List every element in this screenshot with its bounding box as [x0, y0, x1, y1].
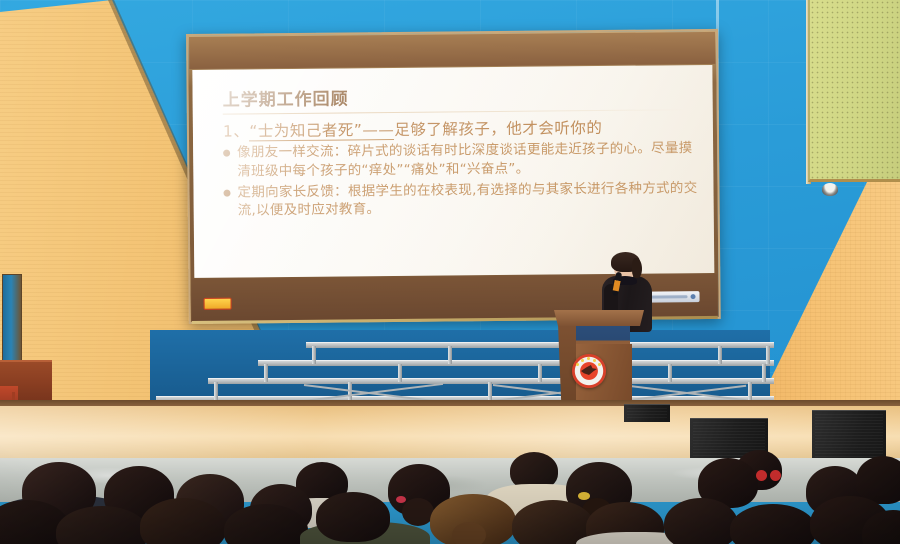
riser-leg — [748, 382, 752, 400]
riser-leg — [668, 364, 672, 382]
riser-deck — [258, 360, 774, 366]
school-crest-icon — [572, 354, 606, 388]
riser-leg — [762, 364, 766, 382]
slide-content: 上学期工作回顾 1、“士为知己者死”——足够了解孩子，他才会听你的 像朋友一样交… — [222, 81, 700, 274]
slide-title: 上学期工作回顾 — [222, 81, 698, 111]
acoustic-panel-green — [808, 0, 900, 182]
slide-title-rule — [223, 109, 689, 114]
screen-top-band — [189, 32, 715, 69]
slide-bullet-item: 像朋友一样交流：碎片式的谈话有时比深度谈话更能走近孩子的心。尽量摸清班级中每个孩… — [223, 140, 699, 182]
hair-bobble — [756, 470, 767, 481]
riser-leg — [448, 346, 452, 364]
riser-leg — [214, 382, 218, 400]
bullet-dot-icon — [223, 189, 230, 196]
stage-monitor — [624, 404, 670, 422]
riser-leg — [488, 382, 492, 400]
riser-leg — [312, 346, 316, 364]
audience-rows — [0, 440, 900, 544]
dome-security-camera-icon — [822, 183, 838, 196]
slide-bullet-item: 定期向家长反馈：根据学生的在校表现,有选择的与其家长进行各种方式的交流,以便及时… — [223, 179, 699, 221]
hair-tie — [578, 492, 590, 500]
slide-heading-rest: 足够了解孩子，他才会听你的 — [394, 119, 602, 139]
slide-heading-number: 1、 — [223, 122, 250, 140]
crest-bird-icon — [581, 365, 597, 375]
presenter-hair-side — [632, 258, 642, 278]
screen-canvas: 上学期工作回顾 1、“士为知己者死”——足够了解孩子，他才会听你的 像朋友一样交… — [192, 65, 714, 278]
auditorium-photo: 上学期工作回顾 1、“士为知己者死”——足够了解孩子，他才会听你的 像朋友一样交… — [0, 0, 900, 544]
slide-bullet-text: 定期向家长反馈：根据学生的在校表现,有选择的与其家长进行各种方式的交流,以便及时… — [237, 179, 699, 221]
crest-star-icon — [587, 357, 590, 360]
audience-head — [664, 498, 738, 544]
slide-heading-quoted: “士为知己者死” — [249, 121, 362, 141]
audience-head — [316, 492, 390, 542]
audience-hair-bun — [452, 522, 486, 544]
slide-bullet-text: 像朋友一样交流：碎片式的谈话有时比深度谈话更能走近孩子的心。尽量摸清班级中每个孩… — [237, 140, 699, 182]
slide-heading-dash: —— — [362, 121, 394, 140]
hair-bobble — [770, 470, 781, 481]
screen-play-button[interactable] — [204, 298, 232, 310]
riser-leg — [264, 364, 268, 382]
riser-leg — [398, 364, 402, 382]
bullet-dot-icon — [223, 150, 230, 157]
speaker-grill — [627, 408, 667, 419]
slide-bullet-list: 像朋友一样交流：碎片式的谈话有时比深度谈话更能走近孩子的心。尽量摸清班级中每个孩… — [223, 140, 700, 221]
piano-backboard — [2, 274, 22, 364]
slide-heading: 1、“士为知己者死”——足够了解孩子，他才会听你的 — [223, 117, 699, 142]
podium-desktop — [554, 310, 644, 326]
audience-head — [730, 504, 816, 544]
riser-deck — [306, 342, 774, 348]
hair-tie — [396, 496, 406, 503]
crest-star-icon — [593, 359, 596, 362]
crest-star-icon — [581, 359, 584, 362]
crest-star-icon — [576, 363, 579, 366]
riser-leg — [766, 346, 770, 364]
riser-leg — [718, 346, 722, 364]
acoustic-panel-perforation — [810, 0, 900, 179]
riser-leg — [538, 364, 542, 382]
toolbar-dot-icon — [691, 294, 696, 299]
crest-star-icon — [598, 363, 601, 366]
